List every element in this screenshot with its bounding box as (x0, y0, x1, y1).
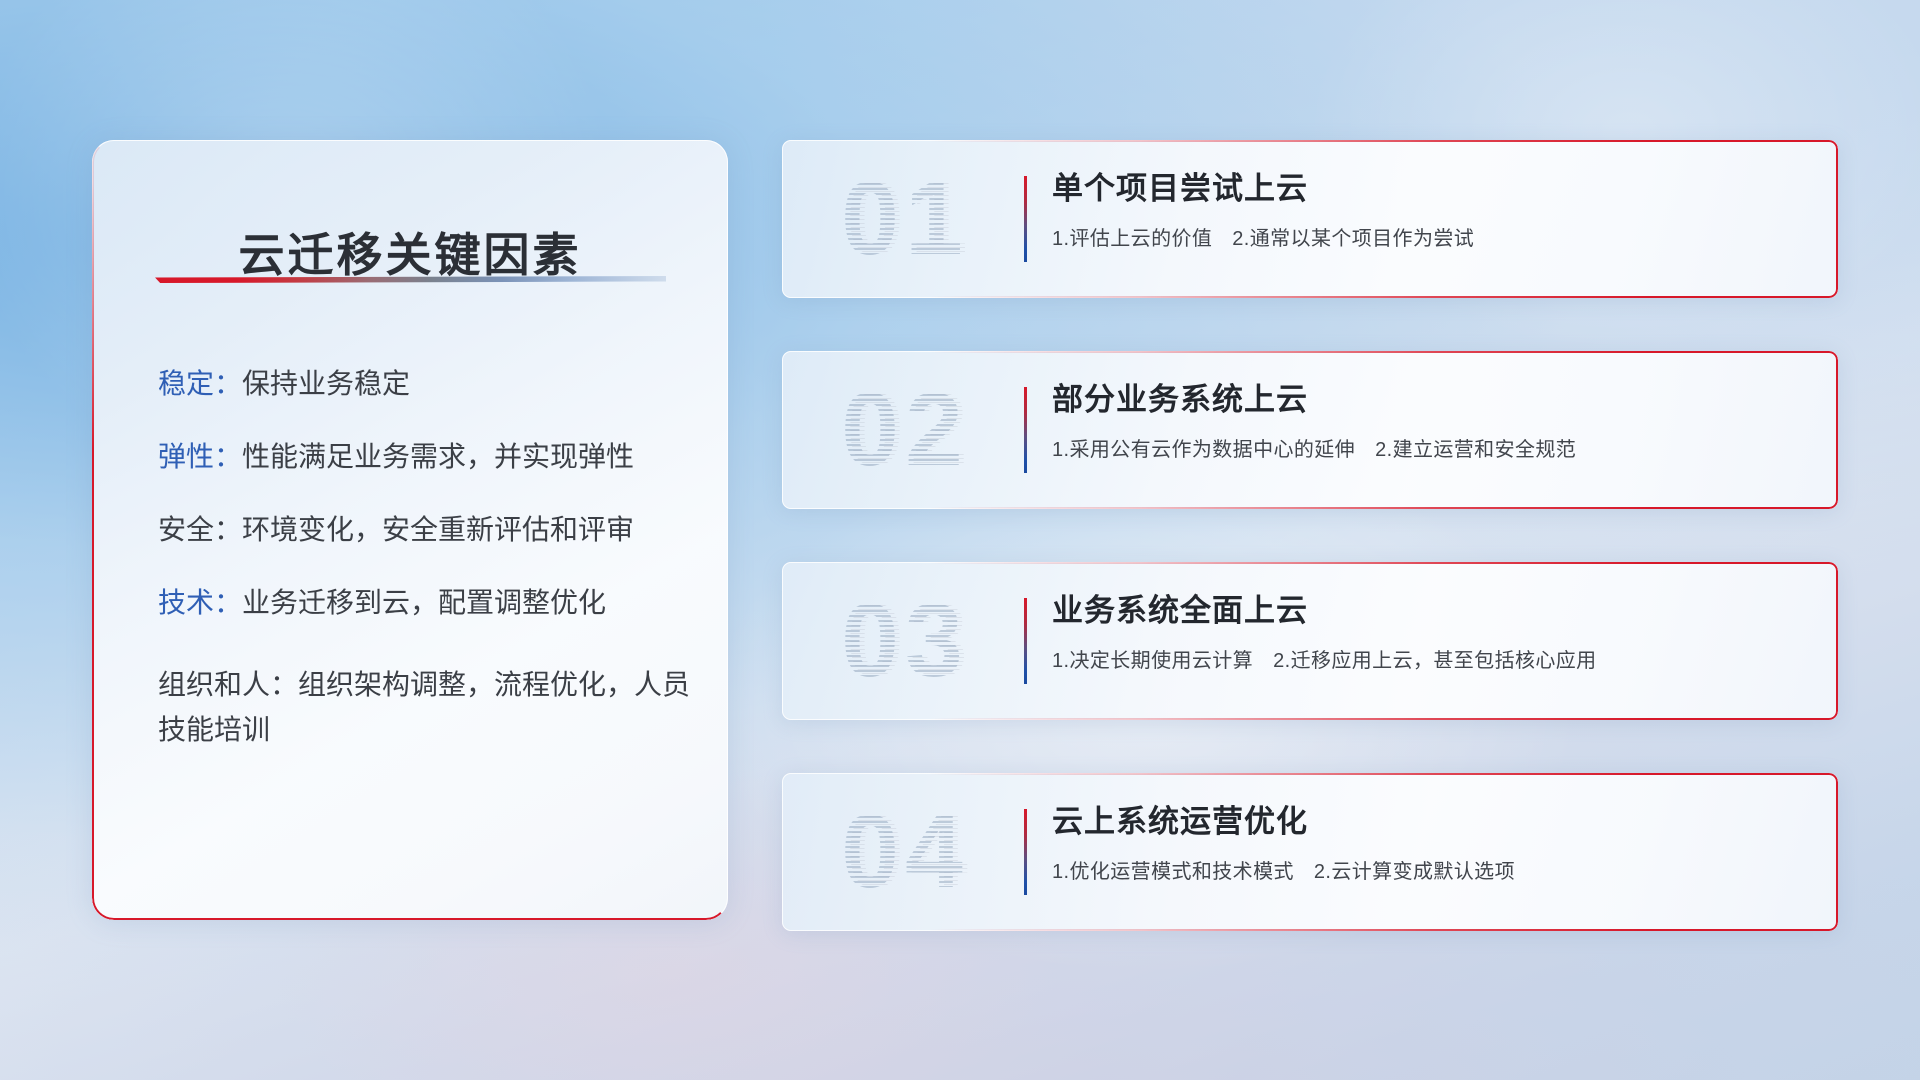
slide-canvas: 云迁移关键因素 稳定：保持业务稳定 弹性：性能满足业务需求，并实现弹性 安全：环… (0, 0, 1920, 1080)
step-point-2: 2.建立运营和安全规范 (1375, 439, 1576, 461)
factor-label: 安全： (158, 514, 242, 545)
factor-label: 技术： (158, 587, 242, 618)
step-body: 业务系统全面上云 1.决定长期使用云计算2.迁移应用上云，甚至包括核心应用 (1052, 592, 1812, 673)
step-number-glitch: 02 (800, 374, 1010, 486)
step-number-glitch: 04 (800, 796, 1010, 908)
step-card-01[interactable]: 01 01 单个项目尝试上云 1.评估上云的价值2.通常以某个项目作为尝试 (782, 140, 1838, 298)
step-number-glitch-shadow: 04 (805, 796, 1015, 908)
list-item: 安全：环境变化，安全重新评估和评审 (158, 516, 694, 544)
step-description: 1.评估上云的价值2.通常以某个项目作为尝试 (1052, 222, 1812, 251)
factor-label: 弹性： (158, 441, 242, 472)
step-card-04[interactable]: 04 04 云上系统运营优化 1.优化运营模式和技术模式2.云计算变成默认选项 (782, 773, 1838, 931)
factor-text: 业务迁移到云，配置调整优化 (242, 587, 606, 618)
factor-label: 组织和人： (158, 669, 298, 700)
step-number-glitch-shadow: 02 (805, 374, 1015, 486)
factor-label: 稳定： (158, 368, 242, 399)
step-title: 业务系统全面上云 (1052, 592, 1812, 630)
step-point-2: 2.通常以某个项目作为尝试 (1232, 228, 1474, 250)
step-description: 1.优化运营模式和技术模式2.云计算变成默认选项 (1052, 855, 1812, 884)
key-factors-panel: 云迁移关键因素 稳定：保持业务稳定 弹性：性能满足业务需求，并实现弹性 安全：环… (92, 140, 728, 920)
step-point-1: 1.采用公有云作为数据中心的延伸 (1052, 439, 1355, 461)
step-point-1: 1.优化运营模式和技术模式 (1052, 861, 1294, 883)
step-title: 单个项目尝试上云 (1052, 170, 1812, 208)
step-accent-bar (1024, 176, 1027, 262)
list-item: 弹性：性能满足业务需求，并实现弹性 (158, 443, 694, 471)
step-description: 1.决定长期使用云计算2.迁移应用上云，甚至包括核心应用 (1052, 644, 1812, 673)
step-body: 云上系统运营优化 1.优化运营模式和技术模式2.云计算变成默认选项 (1052, 803, 1812, 884)
factor-text: 环境变化，安全重新评估和评审 (242, 514, 634, 545)
step-description: 1.采用公有云作为数据中心的延伸2.建立运营和安全规范 (1052, 433, 1812, 462)
step-number-glitch-shadow: 01 (805, 163, 1015, 275)
page-title: 云迁移关键因素 (92, 219, 728, 285)
step-point-2: 2.迁移应用上云，甚至包括核心应用 (1273, 650, 1596, 672)
step-point-2: 2.云计算变成默认选项 (1314, 861, 1515, 883)
factor-text: 性能满足业务需求，并实现弹性 (242, 441, 634, 472)
migration-steps-list: 01 01 单个项目尝试上云 1.评估上云的价值2.通常以某个项目作为尝试 02… (782, 140, 1838, 931)
factor-list: 稳定：保持业务稳定 弹性：性能满足业务需求，并实现弹性 安全：环境变化，安全重新… (158, 370, 694, 798)
step-accent-bar (1024, 809, 1027, 895)
step-card-03[interactable]: 03 03 业务系统全面上云 1.决定长期使用云计算2.迁移应用上云，甚至包括核… (782, 562, 1838, 720)
step-body: 单个项目尝试上云 1.评估上云的价值2.通常以某个项目作为尝试 (1052, 170, 1812, 251)
factor-text: 保持业务稳定 (242, 368, 410, 399)
step-point-1: 1.评估上云的价值 (1052, 228, 1212, 250)
step-number-glitch: 03 (800, 585, 1010, 697)
list-item: 稳定：保持业务稳定 (158, 370, 694, 398)
step-body: 部分业务系统上云 1.采用公有云作为数据中心的延伸2.建立运营和安全规范 (1052, 381, 1812, 462)
list-item: 组织和人：组织架构调整，流程优化，人员技能培训 (158, 662, 694, 753)
step-number-glitch: 01 (800, 163, 1010, 275)
step-number-glitch-shadow: 03 (805, 585, 1015, 697)
step-card-02[interactable]: 02 02 部分业务系统上云 1.采用公有云作为数据中心的延伸2.建立运营和安全… (782, 351, 1838, 509)
step-accent-bar (1024, 598, 1027, 684)
step-title: 部分业务系统上云 (1052, 381, 1812, 419)
step-point-1: 1.决定长期使用云计算 (1052, 650, 1253, 672)
step-accent-bar (1024, 387, 1027, 473)
step-title: 云上系统运营优化 (1052, 803, 1812, 841)
list-item: 技术：业务迁移到云，配置调整优化 (158, 589, 694, 617)
